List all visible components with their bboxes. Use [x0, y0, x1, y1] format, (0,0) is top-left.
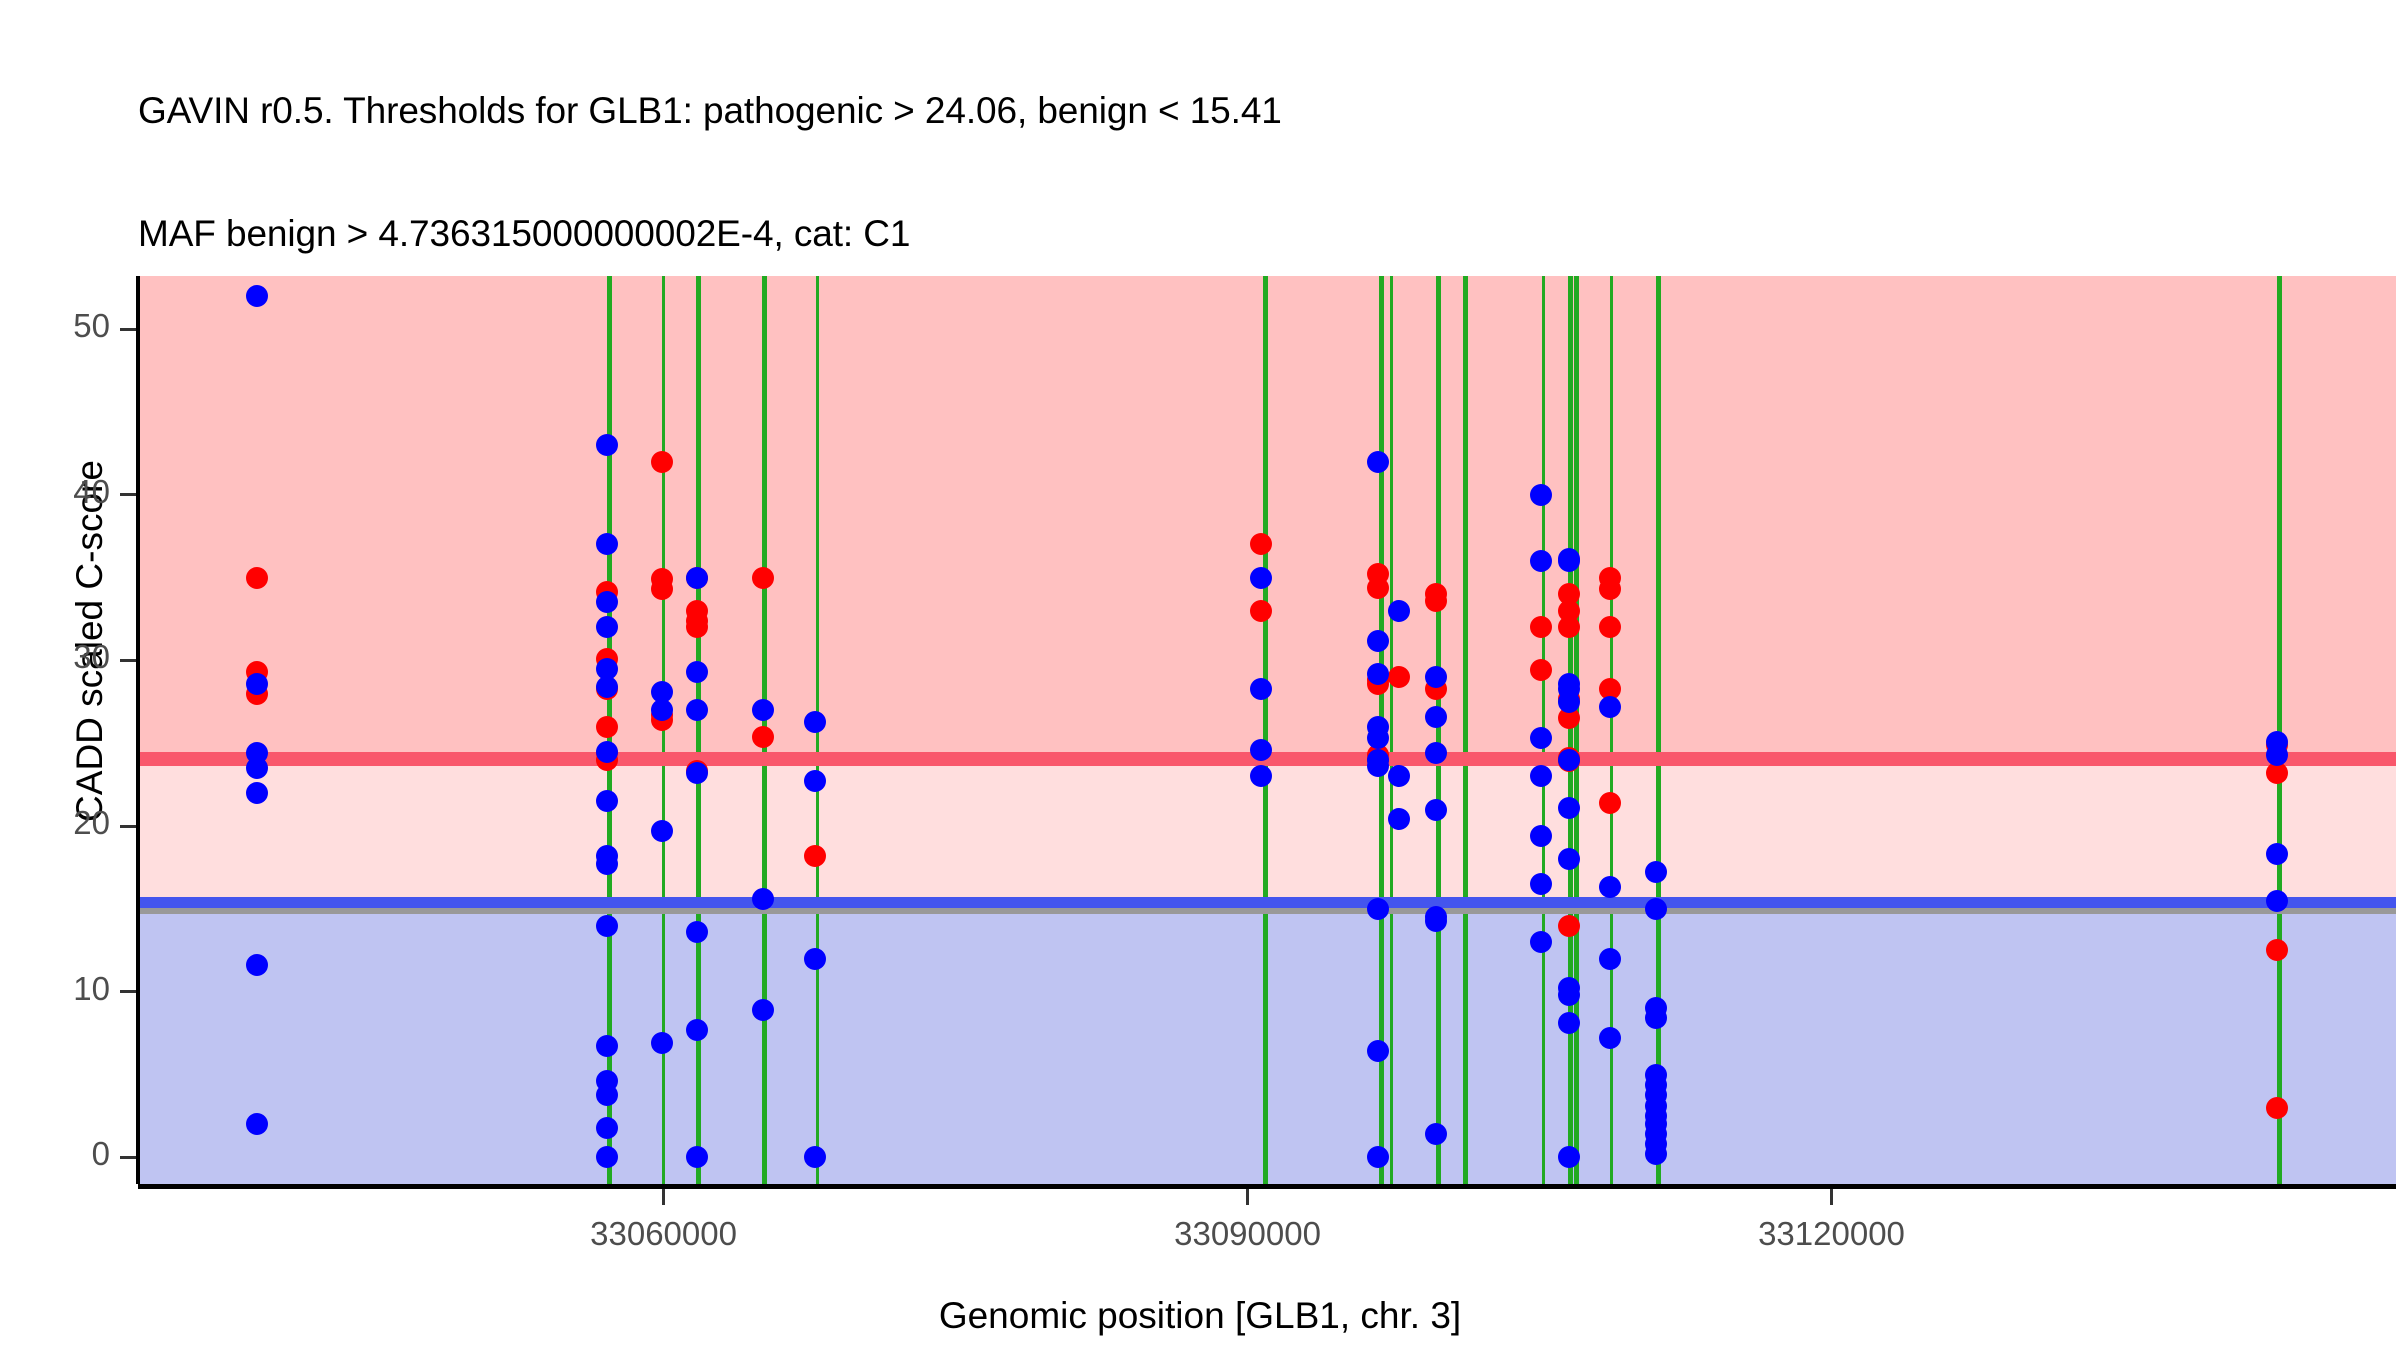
- pathogenic-point: [246, 567, 268, 589]
- benign-point: [246, 285, 268, 307]
- benign-point: [1367, 451, 1389, 473]
- threshold-line-1: [138, 897, 2396, 908]
- benign-point: [686, 1019, 708, 1041]
- exon-line: [1390, 276, 1393, 1184]
- exon-line: [1463, 276, 1468, 1184]
- benign-point: [246, 673, 268, 695]
- benign-point: [1599, 696, 1621, 718]
- benign-point: [686, 921, 708, 943]
- benign-point: [246, 1113, 268, 1135]
- benign-point: [246, 954, 268, 976]
- benign-point: [752, 999, 774, 1021]
- y-axis-line: [136, 276, 140, 1184]
- benign-point: [1367, 898, 1389, 920]
- gavin-cadd-scatter-figure: GAVIN r0.5. Thresholds for GLB1: pathoge…: [0, 0, 2400, 1350]
- benign-point: [596, 1084, 618, 1106]
- pathogenic-point: [651, 578, 673, 600]
- benign-point: [686, 567, 708, 589]
- benign-point: [1388, 600, 1410, 622]
- threshold-line-2: [138, 908, 2396, 914]
- benign-point: [686, 661, 708, 683]
- benign-point: [804, 711, 826, 733]
- exon-line: [1436, 276, 1441, 1184]
- chart-title-line-1: GAVIN r0.5. Thresholds for GLB1: pathoge…: [138, 90, 2338, 131]
- benign-point: [596, 741, 618, 763]
- benign-point: [1250, 739, 1272, 761]
- benign-point: [1599, 1027, 1621, 1049]
- benign-point: [686, 699, 708, 721]
- exon-line: [1263, 276, 1268, 1184]
- benign-point: [596, 434, 618, 456]
- y-tick-mark: [120, 990, 136, 993]
- pathogenic-point: [1558, 616, 1580, 638]
- benign-point: [1558, 848, 1580, 870]
- pathogenic-point: [1599, 578, 1621, 600]
- benign-point: [246, 757, 268, 779]
- benign-point: [1558, 984, 1580, 1006]
- benign-point: [1558, 691, 1580, 713]
- pathogenic-point: [1599, 792, 1621, 814]
- benign-point: [1367, 663, 1389, 685]
- benign-point: [1250, 567, 1272, 589]
- benign-point: [596, 915, 618, 937]
- benign-point: [752, 888, 774, 910]
- pathogenic-point: [752, 567, 774, 589]
- x-axis-title: Genomic position [GLB1, chr. 3]: [0, 1295, 2400, 1337]
- benign-point: [2266, 744, 2288, 766]
- pathogenic-point: [1425, 590, 1447, 612]
- benign-point: [651, 699, 673, 721]
- y-tick-label: 30: [0, 638, 110, 676]
- x-axis-line: [138, 1184, 2396, 1189]
- exon-line: [696, 276, 701, 1184]
- benign-point: [1530, 484, 1552, 506]
- benign-point: [686, 762, 708, 784]
- benign-point: [1558, 550, 1580, 572]
- pathogenic-point: [686, 616, 708, 638]
- exon-line: [1574, 276, 1579, 1184]
- y-tick-mark: [120, 493, 136, 496]
- exon-line: [1568, 276, 1573, 1184]
- x-tick-mark: [662, 1189, 665, 1205]
- benign-point: [1367, 630, 1389, 652]
- benign-point: [651, 1032, 673, 1054]
- y-tick-label: 20: [0, 804, 110, 842]
- x-tick-label: 33120000: [1632, 1215, 2032, 1253]
- x-tick-label: 33060000: [464, 1215, 864, 1253]
- pathogenic-point: [2266, 1097, 2288, 1119]
- pathogenic-point: [1367, 577, 1389, 599]
- benign-point: [2266, 890, 2288, 912]
- benign-point: [1250, 678, 1272, 700]
- benign-point: [1425, 799, 1447, 821]
- benign-point: [651, 820, 673, 842]
- benign-point: [596, 676, 618, 698]
- benign-point: [596, 1117, 618, 1139]
- y-tick-label: 0: [0, 1135, 110, 1173]
- pathogenic-point: [596, 716, 618, 738]
- benign-point: [752, 699, 774, 721]
- pathogenic-point: [752, 726, 774, 748]
- x-tick-mark: [1246, 1189, 1249, 1205]
- benign-point: [1558, 797, 1580, 819]
- plot-panel: [138, 276, 2396, 1184]
- benign-point: [1425, 910, 1447, 932]
- benign-point: [246, 782, 268, 804]
- y-tick-mark: [120, 1156, 136, 1159]
- pathogenic-point: [1558, 915, 1580, 937]
- x-tick-mark: [1830, 1189, 1833, 1205]
- y-tick-mark: [120, 659, 136, 662]
- benign-point: [1599, 876, 1621, 898]
- benign-point: [1425, 706, 1447, 728]
- y-tick-label: 50: [0, 307, 110, 345]
- pathogenic-point: [1599, 616, 1621, 638]
- pathogenic-point: [651, 451, 673, 473]
- benign-point: [686, 1146, 708, 1168]
- pathogenic-point: [1250, 600, 1272, 622]
- benign-point: [1558, 1012, 1580, 1034]
- benign-point: [804, 948, 826, 970]
- benign-point: [1599, 948, 1621, 970]
- x-tick-label: 33090000: [1048, 1215, 1448, 1253]
- y-tick-mark: [120, 825, 136, 828]
- benign-point: [1558, 749, 1580, 771]
- y-tick-label: 10: [0, 970, 110, 1008]
- exon-line: [1656, 276, 1661, 1184]
- exon-line: [2277, 276, 2282, 1184]
- chart-title-line-2: MAF benign > 4.736315000000002E-4, cat: …: [138, 213, 2338, 254]
- y-tick-mark: [120, 328, 136, 331]
- y-tick-label: 40: [0, 473, 110, 511]
